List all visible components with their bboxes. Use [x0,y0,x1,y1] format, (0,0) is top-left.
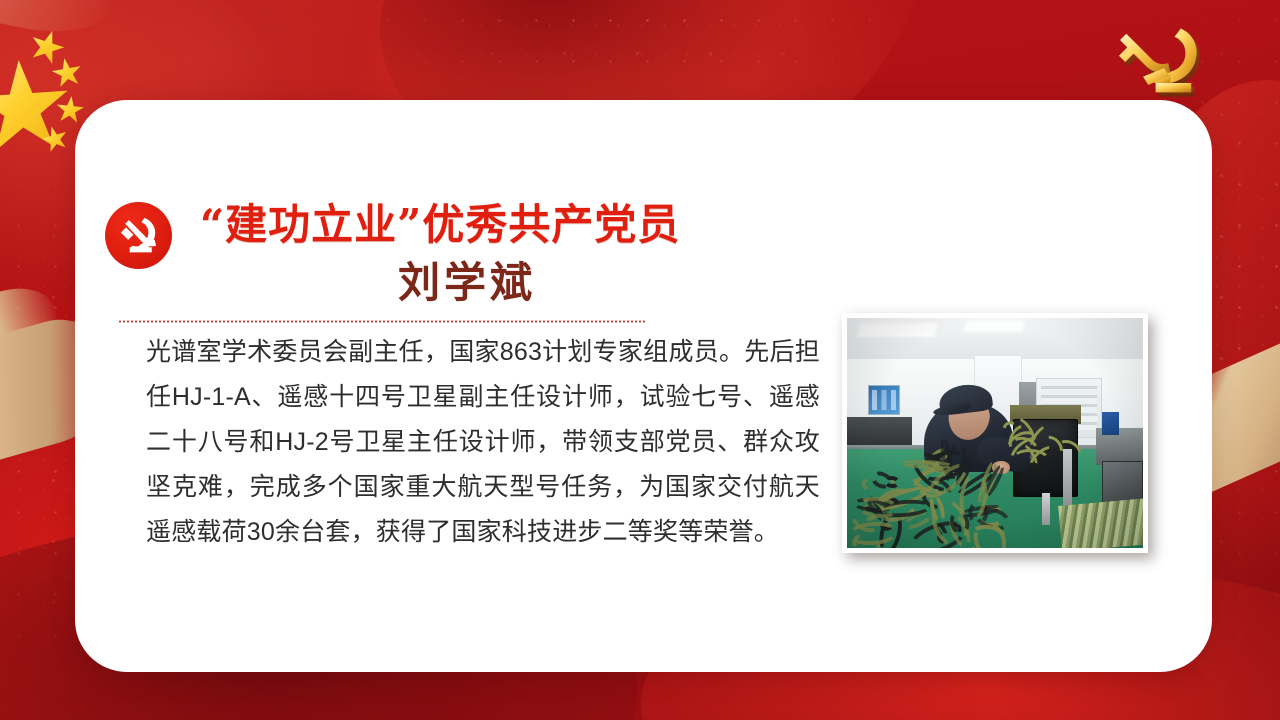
cpc-party-badge-icon [105,202,172,269]
photo-frame [842,313,1148,553]
person-name: 刘学斌 [200,258,734,308]
slide-root: “建功立业”优秀共产党员 刘学斌 光谱室学术委员会副主任，国家863计划专家组成… [0,0,1280,720]
biography-text: 光谱室学术委员会副主任，国家863计划专家组成员。先后担任HJ-1-A、遥感十四… [146,330,820,555]
page-title: “建功立业”优秀共产党员 [200,200,900,250]
lab-photo [847,318,1143,548]
dotted-divider [118,320,646,323]
cpc-hammer-sickle-gold-icon [1110,18,1218,106]
biography-paragraph: 光谱室学术委员会副主任，国家863计划专家组成员。先后担任HJ-1-A、遥感十四… [146,330,820,555]
